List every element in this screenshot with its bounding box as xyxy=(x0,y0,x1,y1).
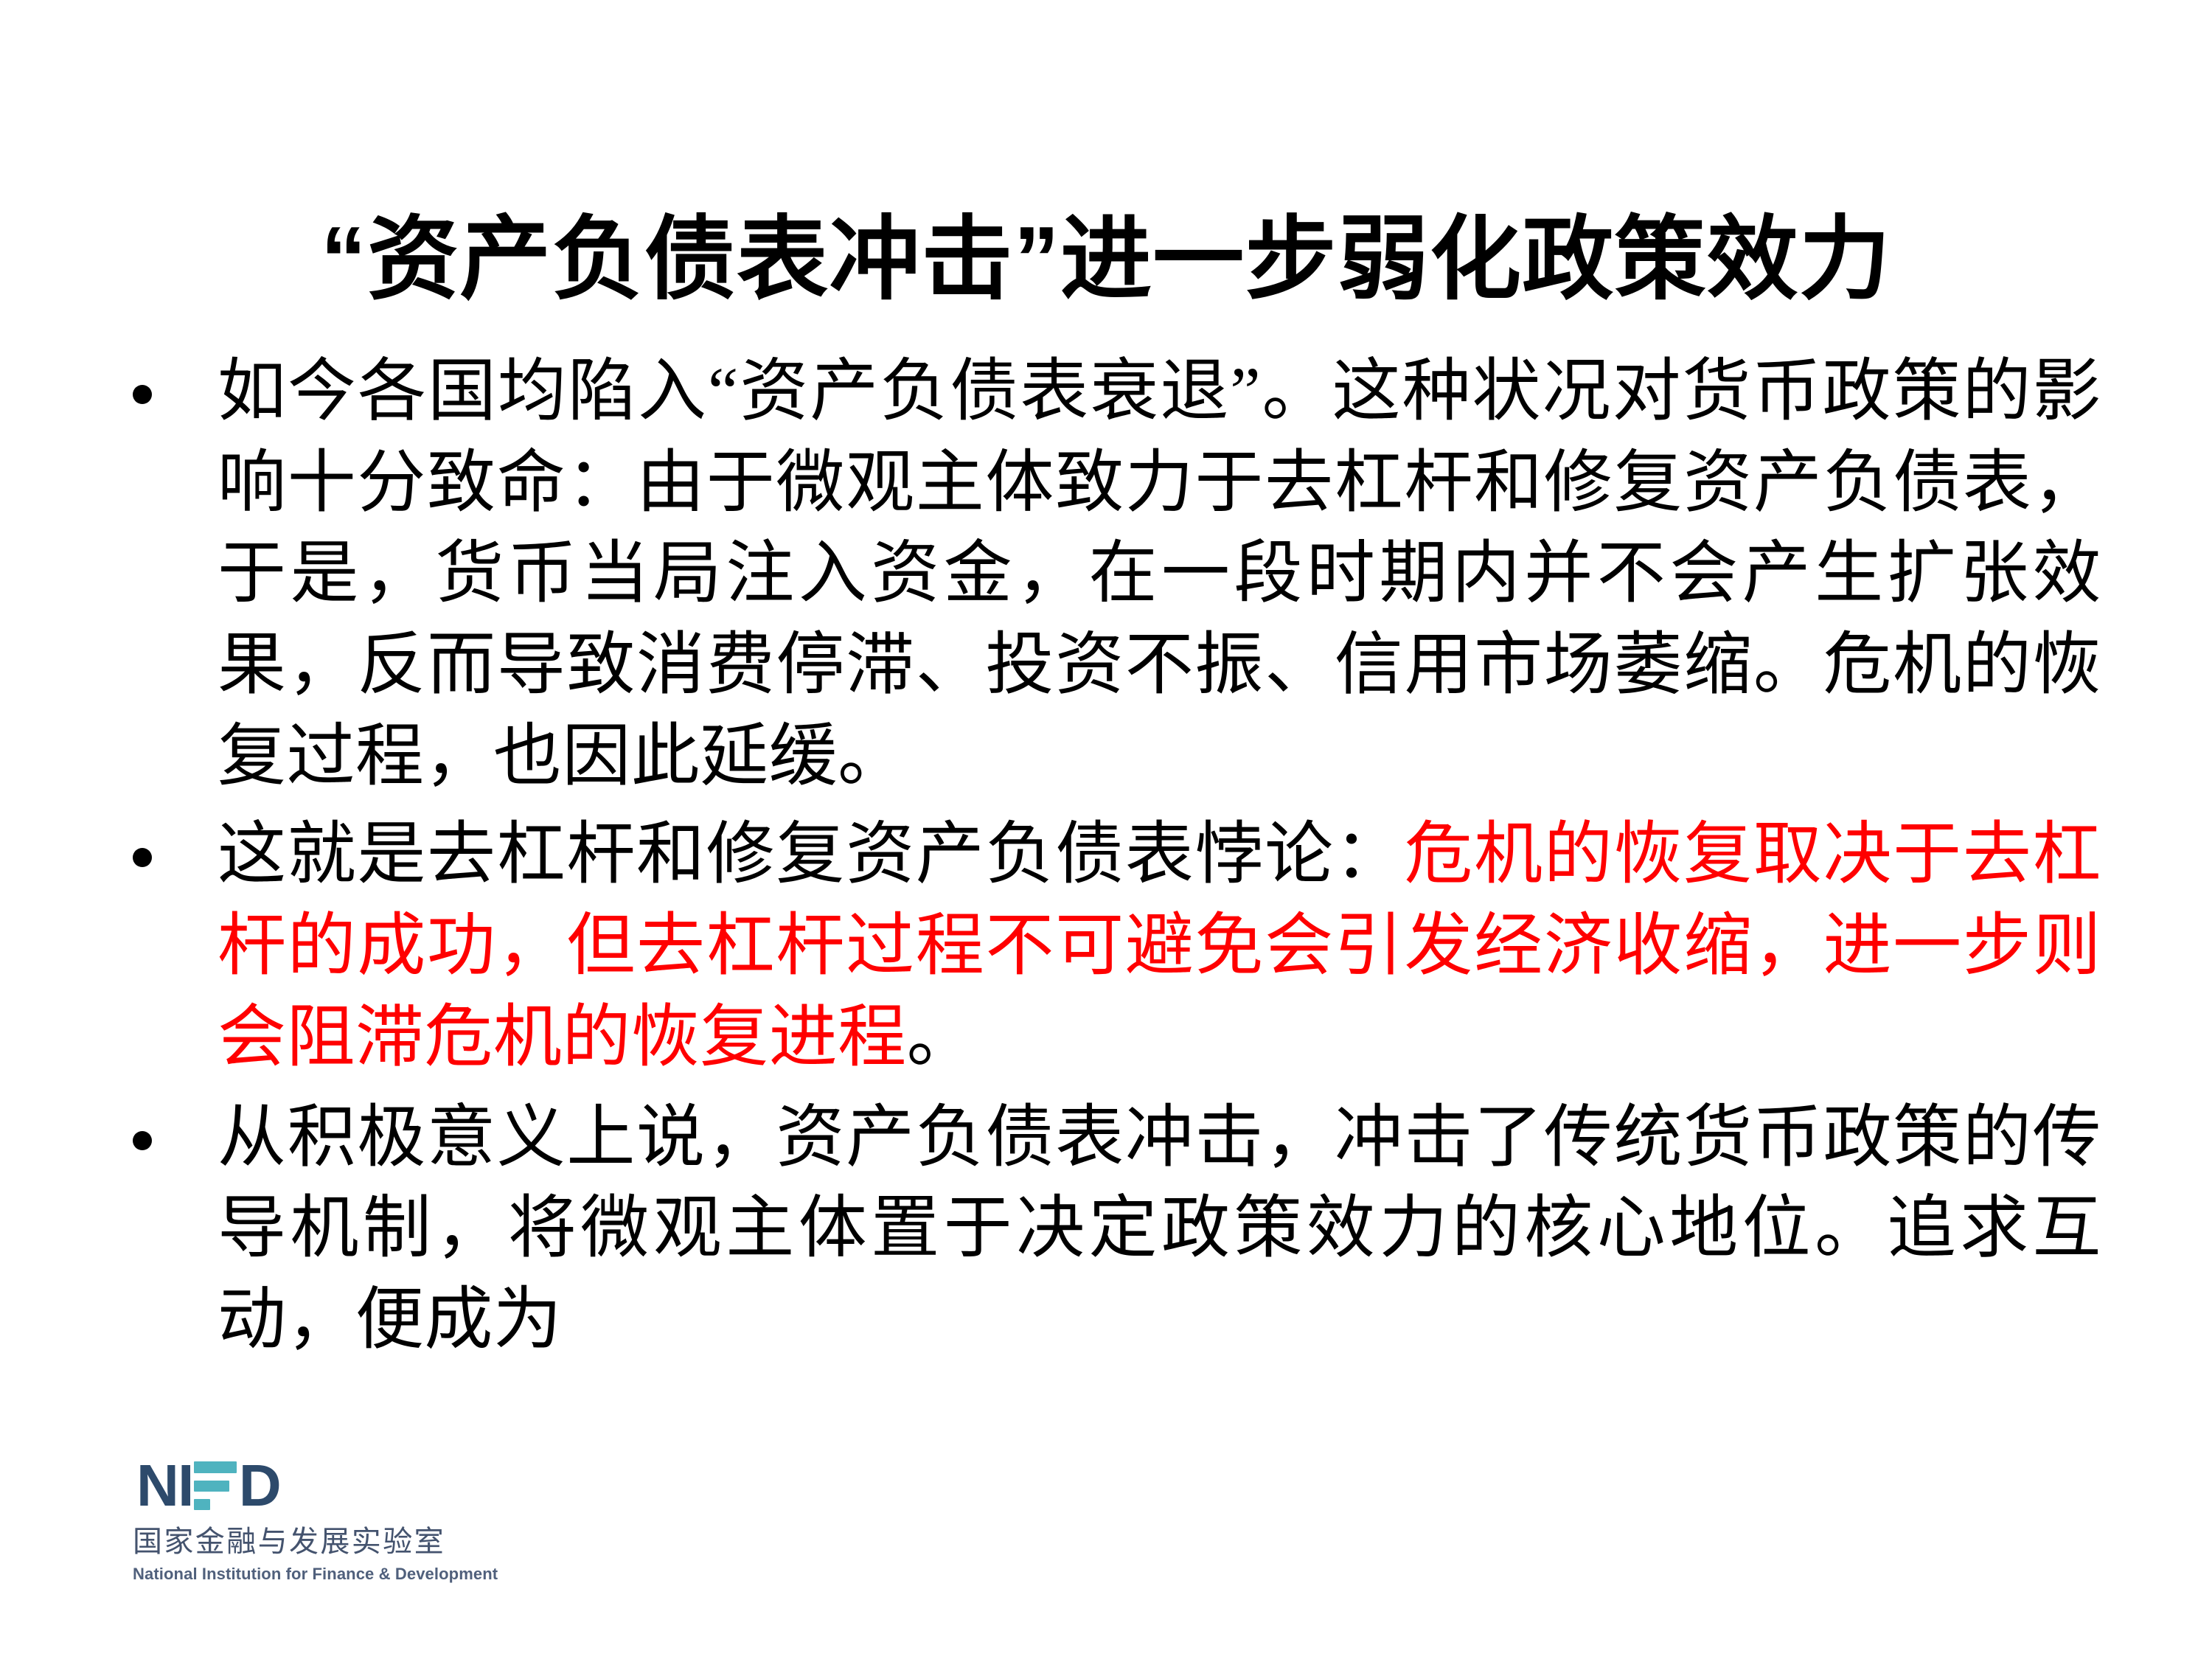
page-title: “资产负债表冲击”进一步弱化政策效力 xyxy=(0,206,2212,313)
bullet-1-segment-1: 如今各国均陷入“资产负债表衰退”。这种状况对货币政策的影响十分致命：由于微观主体… xyxy=(218,354,2101,795)
bullet-text: 如今各国均陷入“资产负债表衰退”。这种状况对货币政策的影响十分致命：由于微观主体… xyxy=(218,347,2101,802)
bullet-2-segment-1: 这就是去杠杆和修复资产负债表悖论： xyxy=(218,817,1404,893)
bullet-dot-icon xyxy=(133,1131,152,1150)
bullet-dot-icon xyxy=(133,385,152,404)
bullet-3-segment-1: 从积极意义上说，资产负债表冲击，冲击了传统货币政策的传导机制，将微观主体置于决定… xyxy=(218,1100,2101,1358)
nifd-logo: NI D 国家金融与发展实验室 National Institution for… xyxy=(133,1458,442,1584)
bullet-text: 从积极意义上说，资产负债表冲击，冲击了传统货币政策的传导机制，将微观主体置于决定… xyxy=(218,1093,2101,1366)
list-item: 这就是去杠杆和修复资产负债表悖论：危机的恢复取决于去杠杆的成功，但去杠杆过程不可… xyxy=(111,810,2101,1083)
bullet-text: 这就是去杠杆和修复资产负债表悖论：危机的恢复取决于去杠杆的成功，但去杠杆过程不可… xyxy=(218,810,2101,1083)
bullet-list: 如今各国均陷入“资产负债表衰退”。这种状况对货币政策的影响十分致命：由于微观主体… xyxy=(111,347,2101,1371)
logo-letters-ni: NI xyxy=(136,1458,193,1513)
logo-letters-d: D xyxy=(239,1458,280,1513)
logo-f-icon xyxy=(194,1458,237,1513)
list-item: 如今各国均陷入“资产负债表衰退”。这种状况对货币政策的影响十分致命：由于微观主体… xyxy=(111,347,2101,802)
bullet-2-segment-3: 。 xyxy=(907,1000,975,1076)
logo-name-en: National Institution for Finance & Devel… xyxy=(133,1565,442,1584)
presentation-slide: “资产负债表冲击”进一步弱化政策效力 如今各国均陷入“资产负债表衰退”。这种状况… xyxy=(0,0,2212,1659)
bullet-dot-icon xyxy=(133,848,152,867)
list-item: 从积极意义上说，资产负债表冲击，冲击了传统货币政策的传导机制，将微观主体置于决定… xyxy=(111,1093,2101,1366)
logo-wordmark: NI D xyxy=(136,1458,442,1513)
logo-name-cn: 国家金融与发展实验室 xyxy=(133,1523,442,1560)
